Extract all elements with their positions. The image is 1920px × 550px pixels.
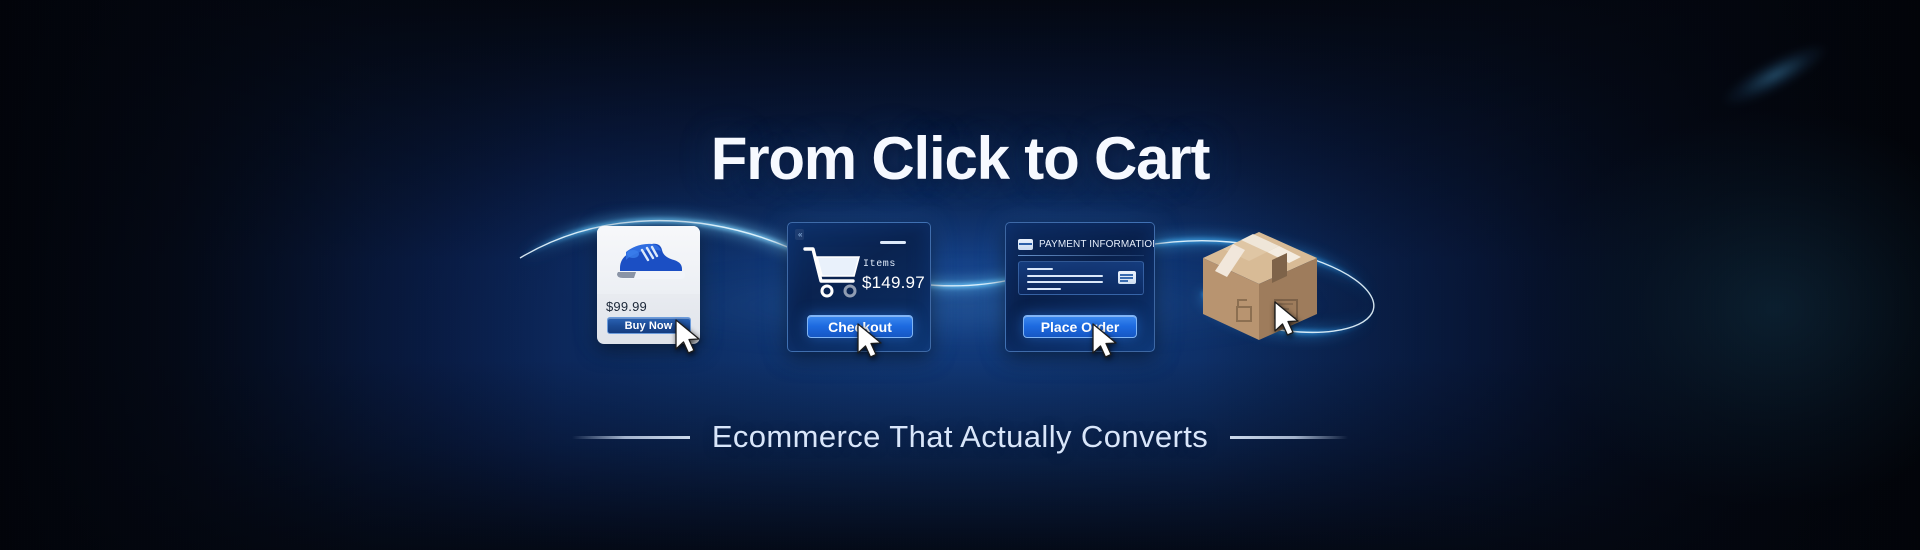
cart-divider [880, 241, 906, 244]
credit-card-icon [1018, 239, 1033, 250]
product-price: $99.99 [606, 299, 700, 314]
place-order-button[interactable]: Place Order [1023, 315, 1137, 338]
hero-banner: From Click to Cart [0, 0, 1920, 550]
payment-card[interactable]: PAYMENT INFORMATION Place Order [1005, 222, 1155, 352]
card-swatch-icon [1118, 271, 1136, 284]
package-box [1197, 228, 1322, 348]
field-line-3 [1027, 281, 1103, 283]
left-vignette [0, 0, 560, 550]
cart-card[interactable]: « Items $149.97 Checkout [787, 222, 931, 352]
cart-total: $149.97 [862, 273, 925, 293]
payment-header-label: PAYMENT INFORMATION [1039, 239, 1155, 250]
shopping-cart-icon [803, 245, 865, 301]
payment-header: PAYMENT INFORMATION [1018, 236, 1144, 252]
cart-items-label: Items [863, 259, 896, 270]
field-line-2 [1027, 275, 1103, 277]
checkout-button[interactable]: Checkout [807, 315, 913, 338]
sneaker-icon [612, 238, 686, 282]
tagline-rule-right [1230, 436, 1348, 439]
buy-now-button[interactable]: Buy Now [607, 317, 691, 334]
page-title: From Click to Cart [0, 124, 1920, 193]
payment-divider [1018, 255, 1144, 256]
cardboard-box-icon [1197, 228, 1322, 348]
tagline-text: Ecommerce That Actually Converts [712, 419, 1208, 455]
tagline-rule-left [572, 436, 690, 439]
tagline-row: Ecommerce That Actually Converts [0, 412, 1920, 462]
collapse-icon[interactable]: « [795, 229, 804, 240]
product-card[interactable]: $99.99 Buy Now [597, 226, 700, 344]
payment-input-field[interactable] [1018, 261, 1144, 295]
field-line-4 [1027, 288, 1061, 290]
field-line-1 [1027, 268, 1053, 270]
product-image [597, 226, 700, 294]
